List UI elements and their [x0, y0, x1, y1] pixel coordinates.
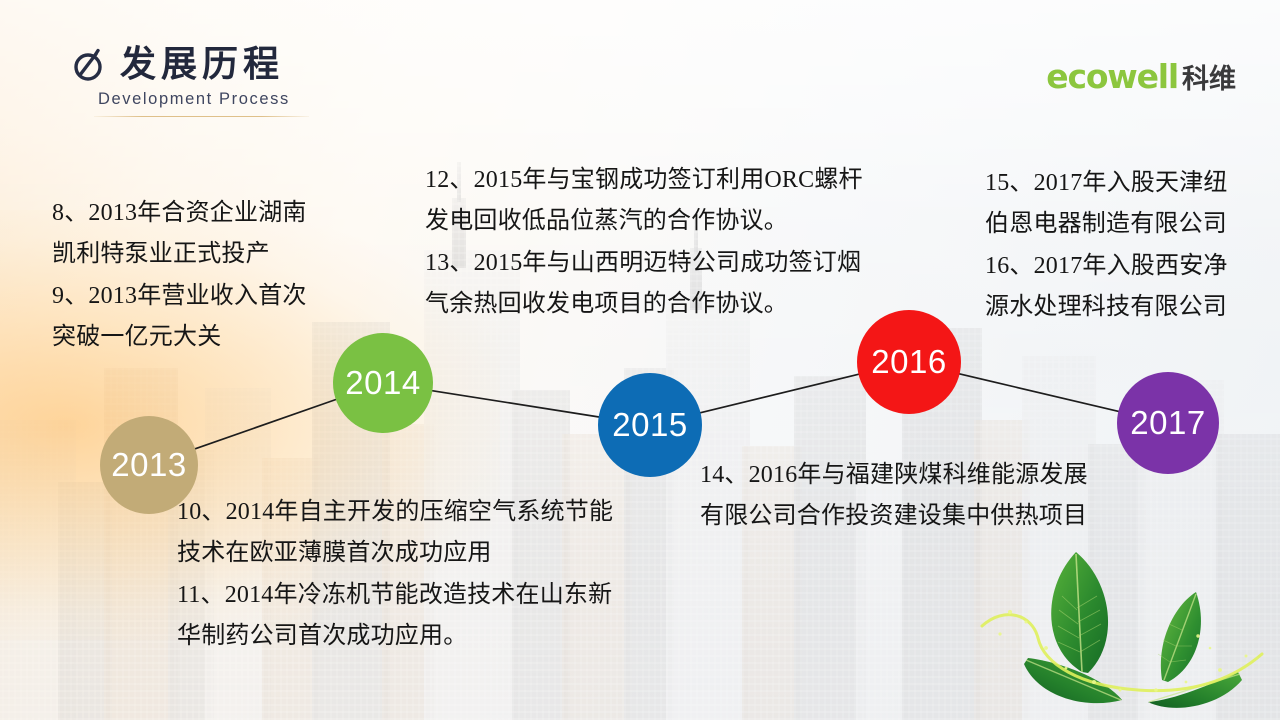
page-subtitle: Development Process — [98, 90, 432, 109]
timeline-node-label: 2015 — [612, 406, 687, 444]
diameter-slash-icon — [72, 46, 106, 82]
milestone-text-2015: 12、2015年与宝钢成功签订利用ORC螺杆 发电回收低品位蒸汽的合作协议。 1… — [425, 160, 945, 325]
timeline-node-label: 2016 — [871, 343, 946, 381]
timeline-node-2016[interactable]: 2016 — [857, 310, 961, 414]
timeline-node-label: 2017 — [1130, 404, 1205, 442]
milestone-text-2017: 15、2017年入股天津纽 伯恩电器制造有限公司 16、2017年入股西安净 源… — [985, 163, 1275, 328]
company-logo: ecowell 科维 — [1046, 60, 1236, 93]
milestone-text-2016: 14、2016年与福建陕煤科维能源发展 有限公司合作投资建设集中供热项目 — [700, 455, 1170, 538]
page-title: 发展历程 — [120, 46, 284, 82]
logo-wordmark: ecowell — [1046, 60, 1178, 93]
title-divider — [94, 116, 309, 117]
milestone-text-2013: 8、2013年合资企业湖南 凯利特泵业正式投产 9、2013年营业收入首次 突破… — [52, 193, 382, 358]
slide-header: 发展历程 Development Process — [72, 46, 432, 117]
timeline-node-label: 2014 — [345, 364, 420, 402]
milestone-text-2014: 10、2014年自主开发的压缩空气系统节能 技术在欧亚薄膜首次成功应用 11、2… — [177, 492, 697, 657]
logo-chinese-name: 科维 — [1182, 66, 1236, 93]
timeline-node-label: 2013 — [111, 446, 186, 484]
timeline-node-2015[interactable]: 2015 — [598, 373, 702, 477]
slide-canvas: 发展历程 Development Process ecowell 科维 2013… — [0, 0, 1280, 720]
